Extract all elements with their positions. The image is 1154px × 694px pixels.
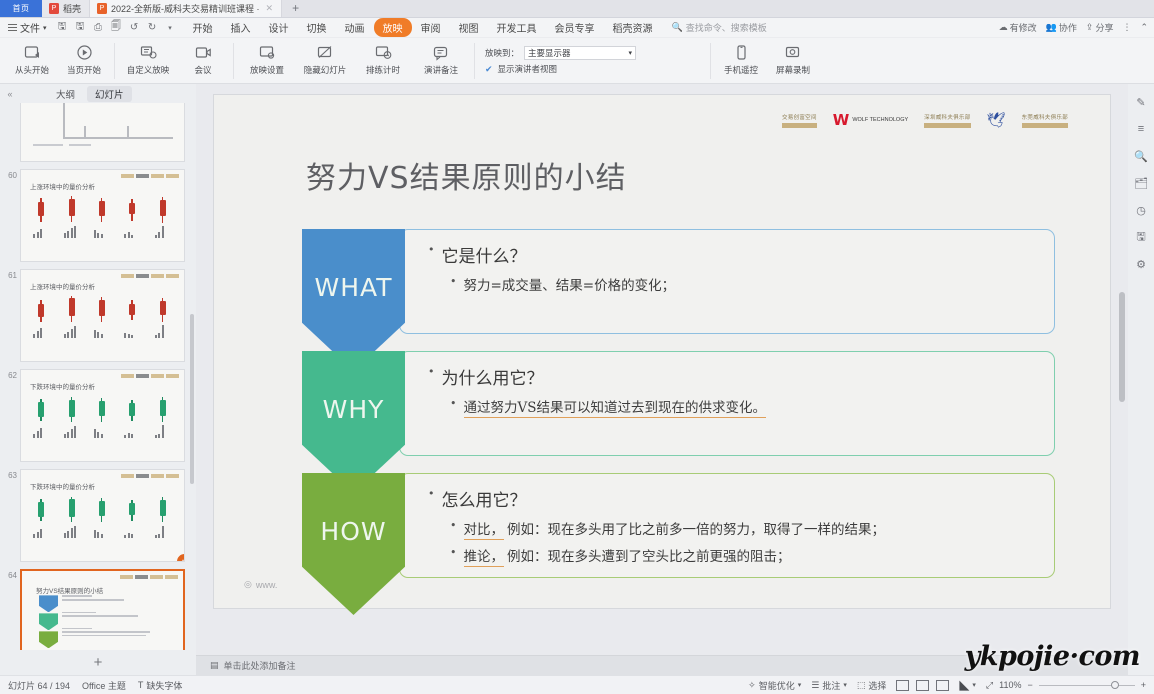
search-placeholder: 查找命令、搜索模板: [686, 21, 767, 34]
slide-thumbnail-panel: « 大纲 幻灯片: [0, 84, 196, 675]
chevron-what[interactable]: WHAT: [302, 229, 405, 371]
slideshow-icon: ◣: [959, 677, 969, 693]
presenter-view-label: 显示演讲者视图: [498, 63, 558, 75]
show-settings-label: 放映设置: [250, 64, 284, 76]
quick-access-toolbar: 🖫 🖫 ⎙ 🗐 ↺ ↻ ▾: [55, 20, 178, 35]
select-button[interactable]: ⬚ 选择: [857, 679, 887, 692]
collaborate-button[interactable]: 👥 协作: [1046, 21, 1077, 34]
menu-transition[interactable]: 切换: [298, 18, 336, 37]
slide-footer: ◎ www.: [244, 579, 277, 590]
globe-icon: ◎: [244, 579, 252, 590]
customize-icon[interactable]: ▾: [163, 20, 178, 35]
speaker-notes-icon: [432, 43, 451, 62]
close-icon[interactable]: ✕: [266, 3, 274, 14]
zoom-slider[interactable]: [1039, 685, 1135, 686]
bullet-secondary: • 通过努力VS结果可以知道过去到现在的供求变化。: [450, 396, 1038, 418]
sorter-view-icon[interactable]: [916, 680, 929, 691]
divider: [474, 43, 475, 79]
chevron-down-icon: ▾: [798, 681, 802, 689]
slide-count: 幻灯片 64 / 194: [8, 679, 70, 692]
rehearse-timing-icon: [374, 43, 393, 62]
notes-placeholder: 单击此处添加备注: [224, 659, 296, 672]
home-tab-label: 首页: [13, 3, 30, 14]
logo-dove: 🕊: [987, 111, 1006, 129]
smart-optimize-button[interactable]: ✧ 智能优化 ▾: [748, 679, 801, 692]
bullet-icon: •: [450, 274, 457, 291]
bullet-icon: •: [428, 242, 435, 259]
bullet-icon: •: [450, 396, 457, 413]
bullet-secondary: • 努力=成交量、结果=价格的变化；: [450, 274, 1038, 294]
custom-show-label: 自定义放映: [127, 64, 170, 76]
add-slide-button[interactable]: +: [0, 650, 196, 675]
file-menu[interactable]: 文件 ▾: [4, 20, 51, 35]
add-slide-badge[interactable]: +: [177, 554, 185, 562]
feather-icon[interactable]: ✎: [1133, 94, 1149, 110]
chevron-label: WHAT: [315, 273, 393, 302]
slide-panel-header: « 大纲 幻灯片: [0, 84, 196, 103]
right-tool-rail: ✎ ≡ 🔍 🗂 ◷ 🖫 ⚙: [1128, 84, 1154, 675]
bullet-primary: • 为什么用它？: [428, 364, 1038, 389]
wps-presentation-window: 首页 P 稻壳 P 2022-全新版-威科夫交易精训班课程 · ✕ + 文件 ▾…: [0, 0, 1154, 694]
collapse-ribbon-icon[interactable]: ⌃: [1140, 22, 1148, 33]
thumb-number: 60: [4, 169, 17, 180]
status-bar: 幻灯片 64 / 194 Office 主题 T 缺失字体 ✧ 智能优化 ▾ ☰…: [0, 675, 1154, 694]
thumb-caption: [27, 352, 178, 357]
divider: [710, 43, 711, 79]
dove-icon: 🕊: [987, 111, 1006, 129]
meeting-label: 会议: [194, 64, 211, 76]
speaker-notes-button[interactable]: 演讲备注: [412, 40, 470, 76]
thumb-logos: [121, 474, 179, 478]
tab-outline[interactable]: 大纲: [48, 86, 83, 102]
collaborate-label: 协作: [1059, 21, 1077, 34]
bullet-primary: • 它是什么？: [428, 242, 1038, 267]
hamburger-icon: [8, 22, 17, 33]
comment-label: 批注: [822, 679, 840, 692]
list-item[interactable]: 61 上涨环境中的量价分析: [4, 269, 196, 362]
thumb-number: 63: [4, 469, 17, 480]
divider: [233, 43, 234, 79]
menu-member[interactable]: 会员专享: [546, 18, 604, 37]
font-icon: T: [138, 680, 144, 690]
list-item[interactable]: [4, 103, 196, 162]
custom-show-icon: [139, 43, 158, 62]
reading-view-icon[interactable]: [936, 680, 949, 691]
settings-icon[interactable]: ⚙: [1133, 256, 1149, 272]
chevron-label: HOW: [320, 517, 386, 546]
sparkle-icon: ✧: [748, 680, 756, 691]
document-tab-label: 2022-全新版-威科夫交易精训班课程 ·: [111, 2, 260, 15]
tab-strip: 首页 P 稻壳 P 2022-全新版-威科夫交易精训班课程 · ✕ +: [0, 0, 1154, 18]
chevron-down-icon: ▾: [629, 49, 633, 57]
bullet-text: 例如：现在多头用了比之前多一倍的努力，取得了一样的结果；: [507, 518, 885, 538]
chevron-label: WHY: [323, 395, 385, 424]
chevron-down-icon: ▾: [972, 681, 976, 689]
content-row-why: WHY • 为什么用它？ • 通过努力VS结果可以知道过去到现在的供求变化。: [302, 351, 1055, 456]
save-as-icon[interactable]: 🖫: [73, 20, 88, 35]
thumb-caption: [27, 552, 178, 557]
phone-remote-label: 手机遥控: [724, 64, 758, 76]
document-tab-label: 稻壳: [63, 2, 81, 15]
slide-content-rows: WHAT • 它是什么？ • 努力=成交量、结果=价格的变化；: [302, 229, 1055, 578]
thumb-logos: [121, 374, 179, 378]
meeting-icon: [194, 43, 213, 62]
play-current-label: 当页开始: [67, 64, 101, 76]
screen-record-button[interactable]: 屏幕录制: [767, 40, 819, 76]
candle-chart: [27, 396, 179, 438]
thumb-title: 努力VS结果原则的小结: [36, 585, 103, 595]
cloud-sync-icon: ☁: [999, 22, 1008, 33]
display-target-select[interactable]: 主要显示器 ▾: [524, 46, 636, 60]
bullet-icon: •: [450, 545, 457, 562]
document-tab-daoke[interactable]: P 稻壳: [42, 0, 90, 17]
menu-start[interactable]: 开始: [184, 18, 222, 37]
people-icon: 👥: [1046, 22, 1057, 33]
bullet-text: 它是什么？: [442, 242, 527, 267]
logo-wolf: W WOLF TECHNOLOGY: [833, 111, 908, 129]
custom-show-button[interactable]: 自定义放映: [119, 40, 177, 76]
chevron-how[interactable]: HOW: [302, 473, 405, 615]
fit-icon[interactable]: ⤢: [986, 680, 993, 691]
share-icon: ⇪: [1086, 22, 1094, 33]
bullet-text: 努力=成交量、结果=价格的变化；: [464, 274, 676, 294]
bullet-text: 怎么用它？: [442, 486, 527, 511]
thumb-caption: [27, 252, 178, 257]
slide-thumbnail[interactable]: 下跌环境中的量价分析: [20, 369, 185, 462]
print-icon[interactable]: ⎙: [91, 20, 106, 35]
thumb-number: 64: [4, 569, 17, 580]
bullet-icon: •: [428, 486, 435, 503]
menu-developer[interactable]: 开发工具: [488, 18, 546, 37]
hide-slide-button[interactable]: 隐藏幻灯片: [296, 40, 354, 76]
work-area: « 大纲 幻灯片: [0, 84, 1154, 675]
thumb-logos: [121, 274, 179, 278]
menubar-right: ☁ 有修改 👥 协作 ⇪ 分享 ⋮ ⌃: [999, 21, 1154, 34]
menu-view[interactable]: 视图: [450, 18, 488, 37]
bullet-primary: • 怎么用它？: [428, 486, 1038, 511]
zoom-value: 110%: [999, 680, 1021, 690]
card-how[interactable]: • 怎么用它？ • 对比， 例如：现在多头用了比之前多一倍的努力，取得了一样的结…: [399, 473, 1055, 578]
comment-button[interactable]: ☰ 批注 ▾: [811, 679, 847, 692]
share-button[interactable]: ⇪ 分享: [1086, 21, 1114, 34]
presenter-view-row[interactable]: ✔ 显示演讲者视图: [485, 63, 636, 75]
menu-items: 开始 插入 设计 切换 动画 放映 审阅 视图 开发工具 会员专享 稻壳资源: [184, 18, 662, 37]
bullet-text: 通过努力VS结果可以知道过去到现在的供求变化。: [464, 396, 767, 418]
thumb-title: 上涨环境中的量价分析: [30, 281, 95, 291]
ppt-icon: P: [97, 3, 107, 14]
logo-shenzhen: 深圳威科夫俱乐部: [924, 113, 970, 128]
menu-animation[interactable]: 动画: [336, 18, 374, 37]
list-item[interactable]: 62 下跌环境中的量价分析: [4, 369, 196, 462]
slide-thumbnail[interactable]: 上涨环境中的量价分析: [20, 269, 185, 362]
thumb-text-lines: [62, 595, 173, 638]
thumb-logos: [121, 174, 179, 178]
thumb-logos: [120, 575, 178, 579]
bullet-text: 例如：现在多头遭到了空头比之前更强的阻击；: [507, 545, 791, 565]
export-icon[interactable]: 🖫: [1133, 229, 1149, 245]
wolf-icon: W WOLF TECHNOLOGY: [833, 111, 908, 129]
zoom-control: ⤢ 110% − +: [986, 680, 1146, 691]
speaker-notes-label: 演讲备注: [424, 64, 458, 76]
phone-remote-icon: [732, 43, 751, 62]
comment-icon: ☰: [811, 680, 819, 691]
slide-canvas-area[interactable]: 交易创富空间 W WOLF TECHNOLOGY 深圳威科夫俱乐部: [196, 84, 1128, 655]
hide-slide-label: 隐藏幻灯片: [304, 64, 347, 76]
menu-resources[interactable]: 稻壳资源: [604, 18, 662, 37]
play-from-start-label: 从头开始: [15, 64, 49, 76]
tab-slides[interactable]: 幻灯片: [87, 86, 132, 102]
display-settings-group: 放映到： 主要显示器 ▾ ✔ 显示演讲者视图: [479, 40, 640, 75]
slide-logo-row: 交易创富空间 W WOLF TECHNOLOGY 深圳威科夫俱乐部: [782, 111, 1068, 129]
smart-optimize-label: 智能优化: [759, 679, 795, 692]
screen-record-icon: [784, 43, 803, 62]
ribbon-toolbar: 从头开始 当页开始 自定义放映 会议 放映设置: [0, 38, 1154, 84]
watermark: ykpojie·com: [965, 641, 1140, 672]
slide-footer-text: www.: [256, 580, 278, 590]
logo-dongguan: 东莞威科夫俱乐部: [1022, 113, 1068, 128]
play-from-start-button[interactable]: 从头开始: [6, 40, 58, 76]
meeting-button[interactable]: 会议: [177, 40, 229, 76]
logo-jiaoyi: 交易创富空间: [782, 113, 817, 128]
canvas-scrollbar[interactable]: [1119, 92, 1125, 602]
cloud-sync-status[interactable]: ☁ 有修改: [999, 21, 1037, 34]
bullet-lead: 推论，: [464, 545, 505, 567]
card-why[interactable]: • 为什么用它？ • 通过努力VS结果可以知道过去到现在的供求变化。: [399, 351, 1055, 456]
zoom-slider-handle[interactable]: [1111, 681, 1119, 689]
collapse-panel-icon[interactable]: «: [4, 89, 16, 99]
font-warning[interactable]: T 缺失字体: [138, 679, 183, 692]
normal-view-icon[interactable]: [896, 680, 909, 691]
layers-icon[interactable]: 🗂: [1133, 175, 1149, 191]
card-what[interactable]: • 它是什么？ • 努力=成交量、结果=价格的变化；: [399, 229, 1055, 334]
rehearse-timing-button[interactable]: 排练计时: [354, 40, 412, 76]
save-icon[interactable]: 🖫: [55, 20, 70, 35]
search-box[interactable]: 🔍 查找命令、搜索模板: [672, 21, 767, 34]
display-target-value: 主要显示器: [528, 47, 571, 59]
thumb-number: 62: [4, 369, 17, 380]
menu-bar: 文件 ▾ 🖫 🖫 ⎙ 🗐 ↺ ↻ ▾ 开始 插入 设计 切换 动画 放映 审阅 …: [0, 18, 1154, 38]
search-icon: 🔍: [672, 22, 683, 33]
sliders-icon[interactable]: ≡: [1133, 121, 1149, 137]
chevron-down-icon: ▾: [843, 681, 847, 689]
pdf-icon: P: [49, 3, 59, 14]
display-target-row: 放映到： 主要显示器 ▾: [485, 46, 636, 60]
slide-title[interactable]: 努力VS结果原则的小结: [306, 153, 627, 197]
search-doc-icon[interactable]: 🔍: [1133, 148, 1149, 164]
canvas-wrapper: 交易创富空间 W WOLF TECHNOLOGY 深圳威科夫俱乐部: [196, 84, 1128, 675]
bullet-secondary: • 推论， 例如：现在多头遭到了空头比之前更强的阻击；: [450, 545, 1038, 567]
home-tab[interactable]: 首页: [0, 0, 42, 17]
play-from-start-icon: [23, 43, 42, 62]
divider: [114, 43, 115, 79]
zoom-out-button[interactable]: −: [1027, 680, 1032, 690]
slide-thumbnail-list[interactable]: 60 上涨环境中的量价分析: [0, 103, 196, 650]
slide-thumbnail[interactable]: [20, 103, 185, 162]
thumb-title: 上涨环境中的量价分析: [30, 181, 95, 191]
zoom-in-button[interactable]: +: [1141, 680, 1146, 690]
history-icon[interactable]: ◷: [1133, 202, 1149, 218]
thumb-chevrons: [39, 595, 58, 648]
phone-remote-button[interactable]: 手机遥控: [715, 40, 767, 76]
notes-icon: ▤: [210, 660, 219, 671]
hide-slide-icon: [316, 43, 335, 62]
chevron-down-icon: ▾: [43, 24, 47, 32]
slide-panel-tabs: 大纲 幻灯片: [48, 86, 132, 102]
view-buttons: [896, 680, 949, 691]
play-current-icon: [75, 43, 94, 62]
font-warning-label: 缺失字体: [146, 679, 182, 692]
candle-chart: [27, 296, 179, 338]
status-bar-right: ✧ 智能优化 ▾ ☰ 批注 ▾ ⬚ 选择 ◣ ▾: [748, 677, 1146, 693]
cloud-sync-label: 有修改: [1010, 21, 1037, 34]
slide-panel-scrollbar[interactable]: [190, 314, 194, 484]
checkbox-checked-icon: ✔: [485, 64, 493, 75]
new-tab-button[interactable]: +: [282, 0, 309, 17]
bullet-secondary: • 对比， 例如：现在多头用了比之前多一倍的努力，取得了一样的结果；: [450, 518, 1038, 540]
slide-thumbnail[interactable]: 下跌环境中的量价分析 +: [20, 469, 185, 562]
show-settings-icon: [258, 43, 277, 62]
slideshow-button[interactable]: ◣ ▾: [959, 677, 976, 693]
candle-chart: [27, 196, 179, 238]
play-current-button[interactable]: 当页开始: [58, 40, 110, 76]
theme-name[interactable]: Office 主题: [82, 679, 126, 692]
file-menu-label: 文件: [20, 20, 40, 35]
thumb-title: 下跌环境中的量价分析: [30, 481, 95, 491]
print-preview-icon[interactable]: 🗐: [109, 20, 124, 35]
list-item[interactable]: 63 下跌环境中的量价分析: [4, 469, 196, 562]
list-item[interactable]: 60 上涨环境中的量价分析: [4, 169, 196, 262]
thumb-number: 61: [4, 269, 17, 280]
document-tab-active[interactable]: P 2022-全新版-威科夫交易精训班课程 · ✕: [90, 0, 282, 17]
bullet-lead: 对比，: [464, 518, 505, 540]
bullet-text: 为什么用它？: [442, 364, 544, 389]
content-row-how: HOW • 怎么用它？ • 对比， 例如：现在多头用了比之: [302, 473, 1055, 578]
bullet-icon: •: [450, 518, 457, 535]
menu-design[interactable]: 设计: [260, 18, 298, 37]
slide-thumbnail-selected[interactable]: 努力VS结果原则的小结: [20, 569, 185, 650]
screen-record-label: 屏幕录制: [776, 64, 810, 76]
list-item[interactable]: 64 努力VS结果原则的小结: [4, 569, 196, 650]
display-target-label: 放映到：: [485, 47, 519, 59]
share-label: 分享: [1095, 21, 1113, 34]
bullet-icon: •: [428, 364, 435, 381]
more-options-icon[interactable]: ⋮: [1122, 22, 1131, 33]
redo-icon[interactable]: ↻: [145, 20, 160, 35]
menu-insert[interactable]: 插入: [222, 18, 260, 37]
candle-chart: [27, 496, 179, 538]
menu-slideshow[interactable]: 放映: [374, 18, 412, 37]
rehearse-timing-label: 排练计时: [366, 64, 400, 76]
chevron-why[interactable]: WHY: [302, 351, 405, 493]
slide-thumbnail[interactable]: 上涨环境中的量价分析: [20, 169, 185, 262]
select-icon: ⬚: [857, 680, 866, 691]
menu-review[interactable]: 审阅: [412, 18, 450, 37]
select-label: 选择: [868, 679, 886, 692]
content-row-what: WHAT • 它是什么？ • 努力=成交量、结果=价格的变化；: [302, 229, 1055, 334]
thumb-title: 下跌环境中的量价分析: [30, 381, 95, 391]
slide-canvas[interactable]: 交易创富空间 W WOLF TECHNOLOGY 深圳威科夫俱乐部: [213, 94, 1111, 609]
show-settings-button[interactable]: 放映设置: [238, 40, 296, 76]
undo-icon[interactable]: ↺: [127, 20, 142, 35]
